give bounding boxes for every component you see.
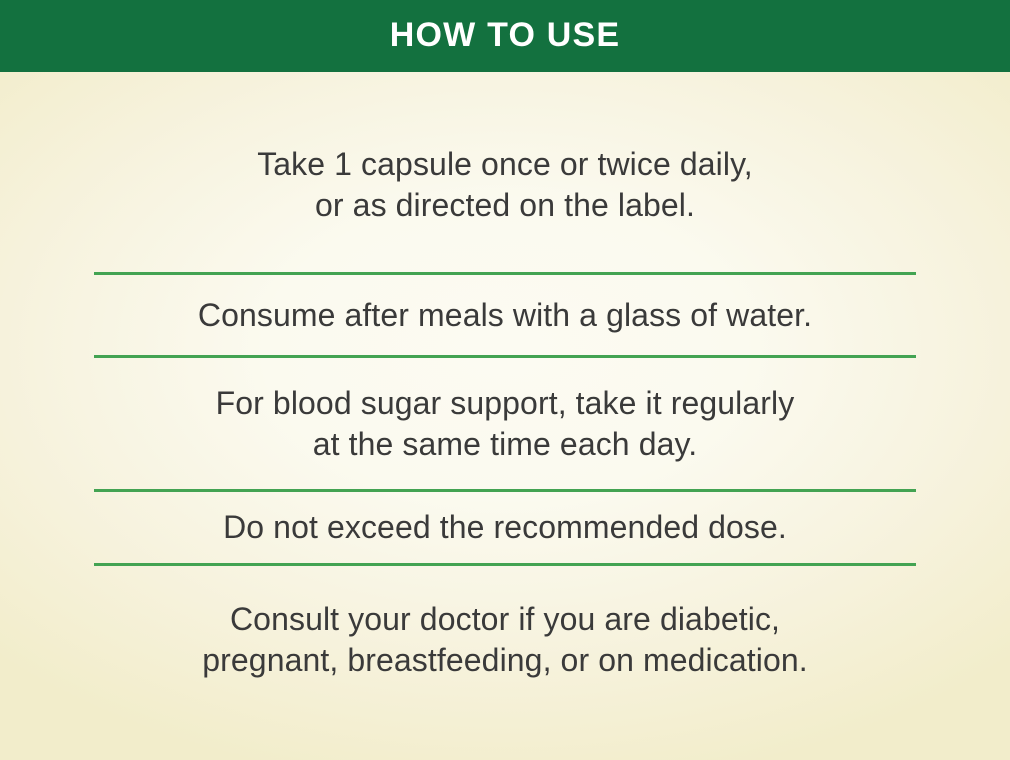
instruction-item-with-meals: Consume after meals with a glass of wate… bbox=[94, 275, 916, 355]
instruction-text: Consume after meals with a glass of wate… bbox=[94, 295, 916, 336]
instruction-text: Do not exceed the recommended dose. bbox=[94, 507, 916, 548]
instruction-item-max-dose: Do not exceed the recommended dose. bbox=[94, 492, 916, 563]
header-bar: HOW TO USE bbox=[0, 0, 1010, 72]
instruction-text: Consult your doctor if you are diabetic,… bbox=[94, 599, 916, 681]
instruction-text: For blood sugar support, take it regular… bbox=[94, 383, 916, 465]
instructions-list: Take 1 capsule once or twice daily, or a… bbox=[0, 72, 1010, 760]
page-title: HOW TO USE bbox=[390, 18, 621, 52]
instruction-text: Take 1 capsule once or twice daily, or a… bbox=[94, 144, 916, 226]
instruction-item-blood-sugar-timing: For blood sugar support, take it regular… bbox=[94, 358, 916, 489]
how-to-use-card: HOW TO USE Take 1 capsule once or twice … bbox=[0, 0, 1010, 760]
instruction-item-consult-doctor: Consult your doctor if you are diabetic,… bbox=[94, 566, 916, 760]
instruction-item-dosage: Take 1 capsule once or twice daily, or a… bbox=[94, 72, 916, 272]
